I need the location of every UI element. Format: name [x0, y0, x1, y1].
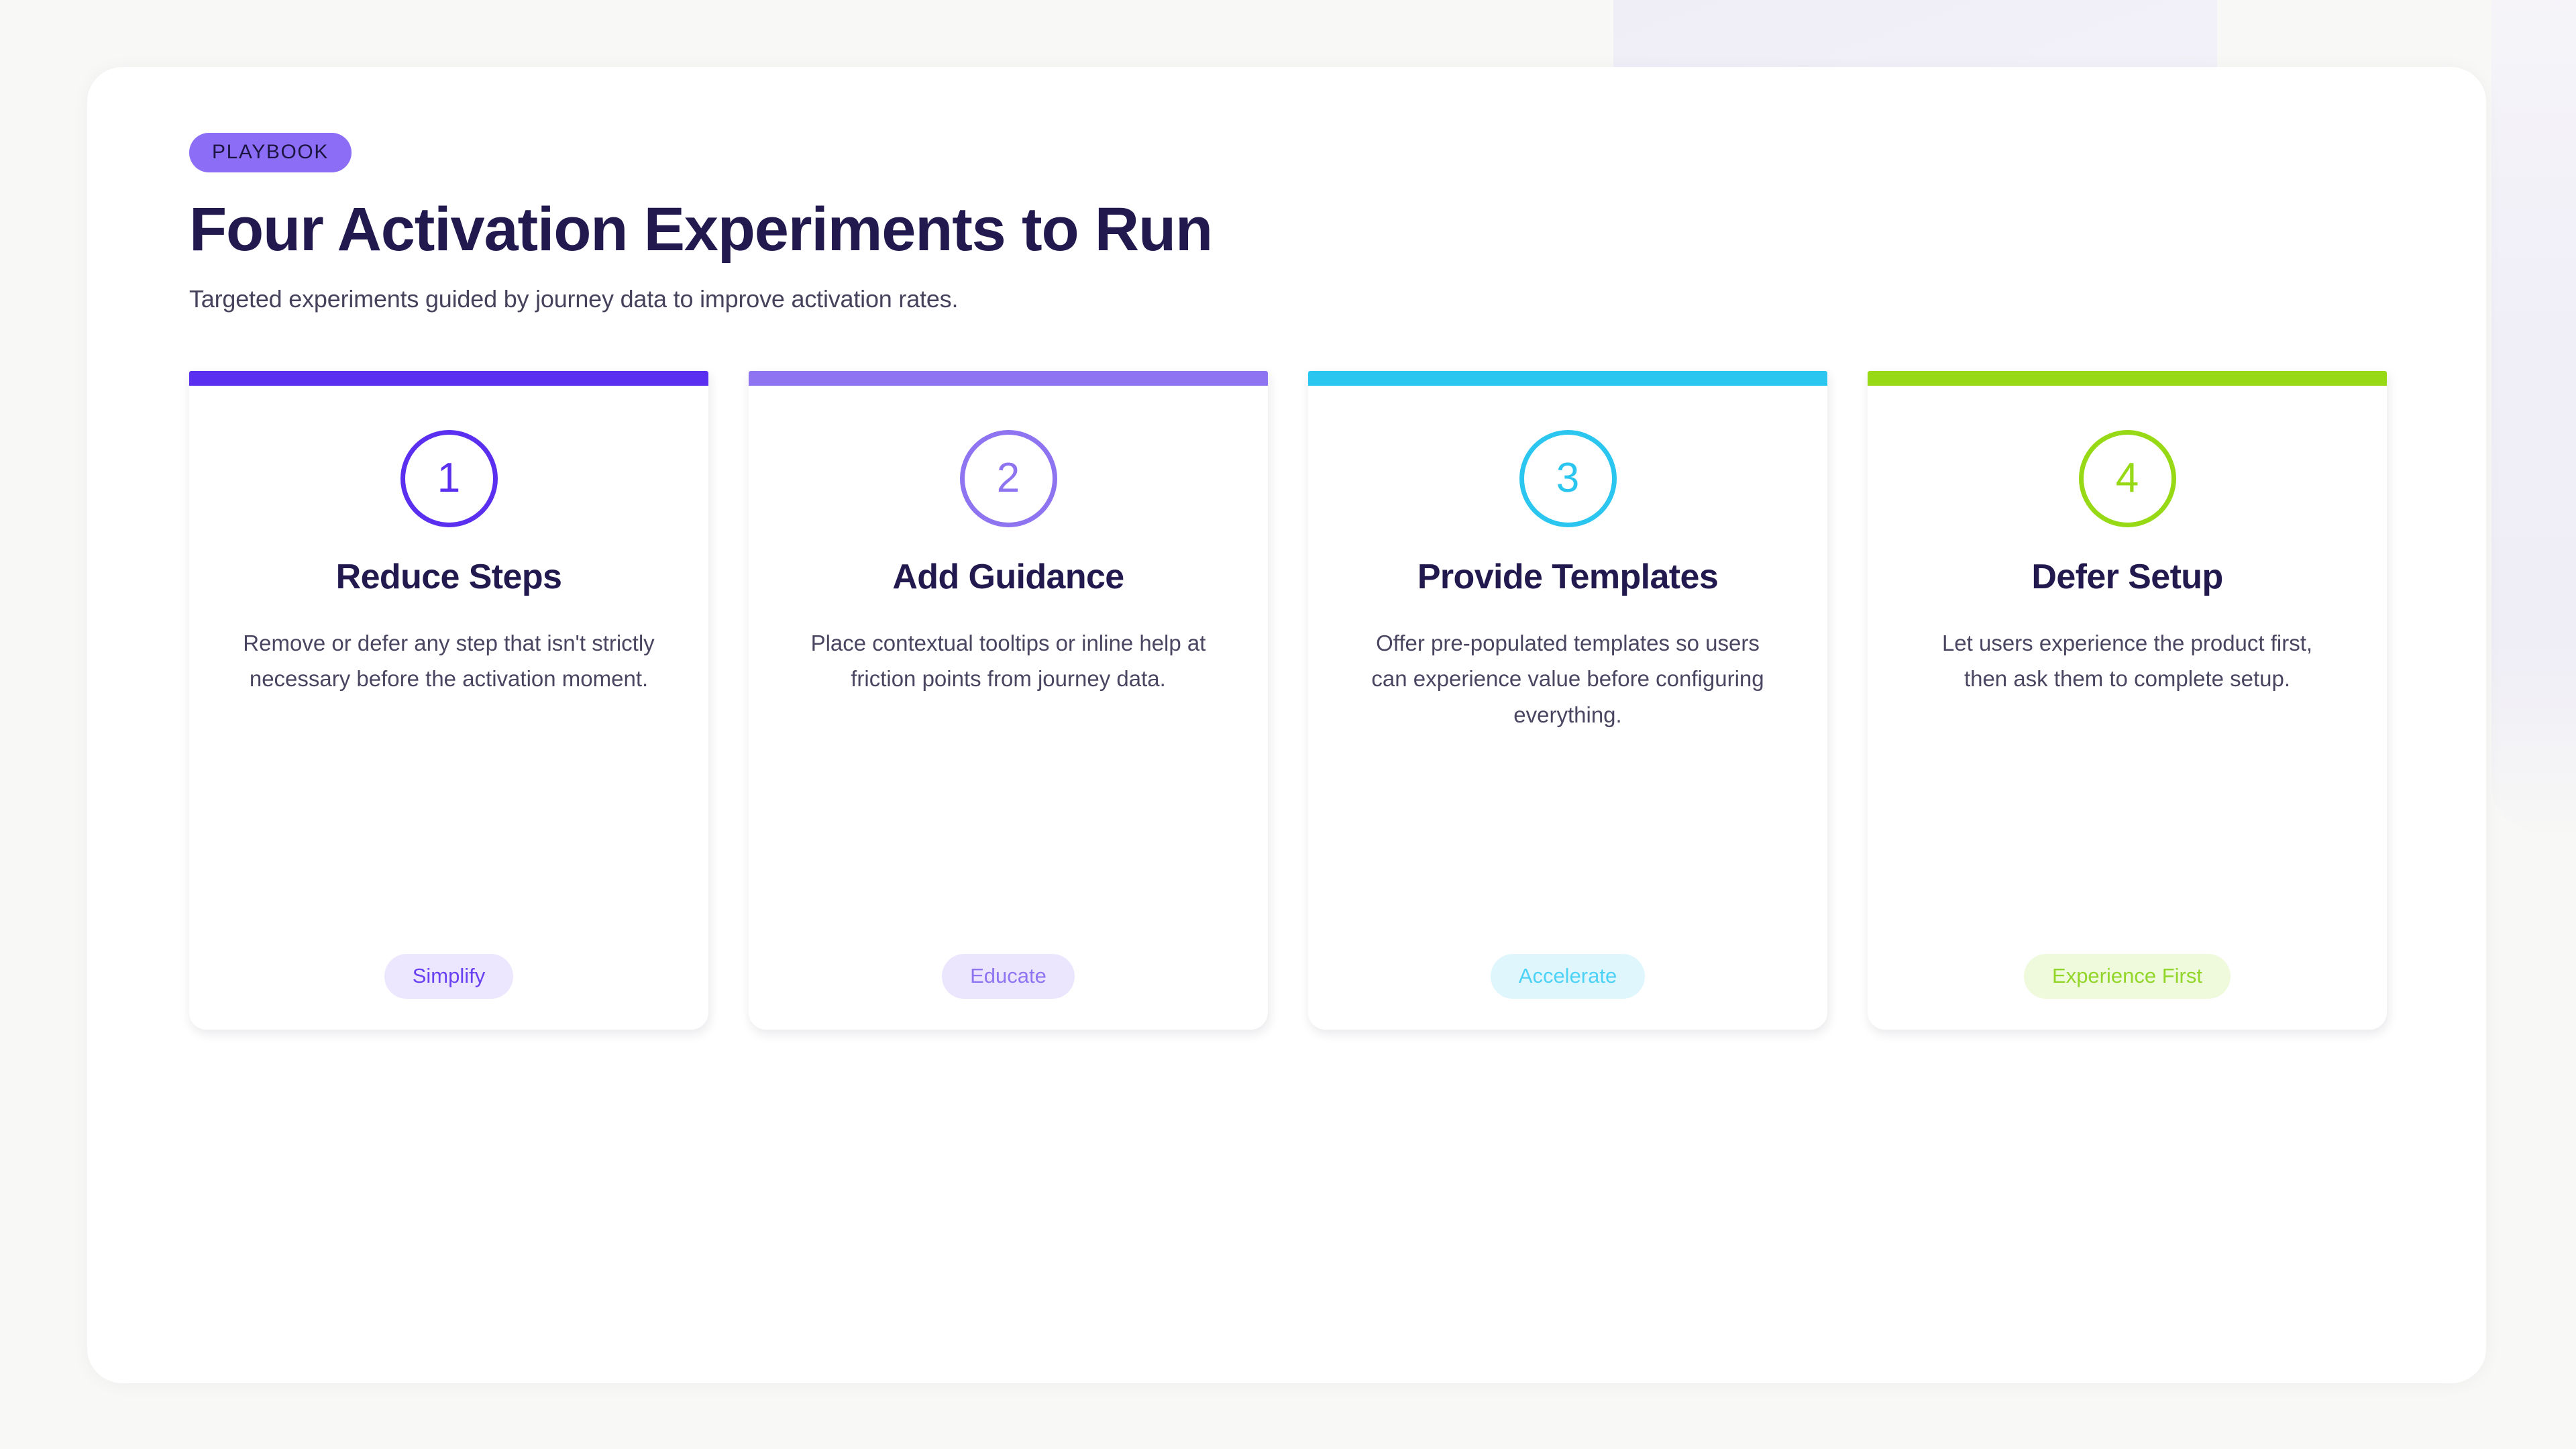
page-title: Four Activation Experiments to Run: [189, 198, 2486, 262]
card-accent-bar: [1868, 371, 2387, 386]
card-tag[interactable]: Educate: [942, 954, 1075, 999]
background-decoration-right: [2491, 0, 2576, 832]
card-description: Let users experience the product first, …: [1919, 625, 2335, 697]
card-tag[interactable]: Simplify: [384, 954, 514, 999]
content-panel: PLAYBOOK Four Activation Experiments to …: [87, 67, 2486, 1383]
card-description: Remove or defer any step that isn't stri…: [241, 625, 657, 697]
card-title: Defer Setup: [2031, 557, 2222, 597]
card-tag[interactable]: Experience First: [2024, 954, 2231, 999]
experiment-card[interactable]: 2 Add Guidance Place contextual tooltips…: [749, 371, 1268, 1030]
experiment-cards-row: 1 Reduce Steps Remove or defer any step …: [189, 371, 2486, 1030]
card-title: Provide Templates: [1417, 557, 1718, 597]
experiment-card[interactable]: 4 Defer Setup Let users experience the p…: [1868, 371, 2387, 1030]
card-number-badge: 2: [960, 430, 1057, 527]
card-number-badge: 3: [1519, 430, 1617, 527]
card-description: Place contextual tooltips or inline help…: [800, 625, 1216, 697]
page-subtitle: Targeted experiments guided by journey d…: [189, 285, 2486, 313]
playbook-badge: PLAYBOOK: [189, 133, 352, 172]
card-number-badge: 4: [2079, 430, 2176, 527]
card-tag[interactable]: Accelerate: [1491, 954, 1645, 999]
card-title: Add Guidance: [892, 557, 1124, 597]
card-title: Reduce Steps: [336, 557, 562, 597]
card-accent-bar: [749, 371, 1268, 386]
card-description: Offer pre-populated templates so users c…: [1360, 625, 1776, 733]
experiment-card[interactable]: 1 Reduce Steps Remove or defer any step …: [189, 371, 708, 1030]
card-number-badge: 1: [400, 430, 498, 527]
card-accent-bar: [189, 371, 708, 386]
experiment-card[interactable]: 3 Provide Templates Offer pre-populated …: [1308, 371, 1827, 1030]
card-accent-bar: [1308, 371, 1827, 386]
